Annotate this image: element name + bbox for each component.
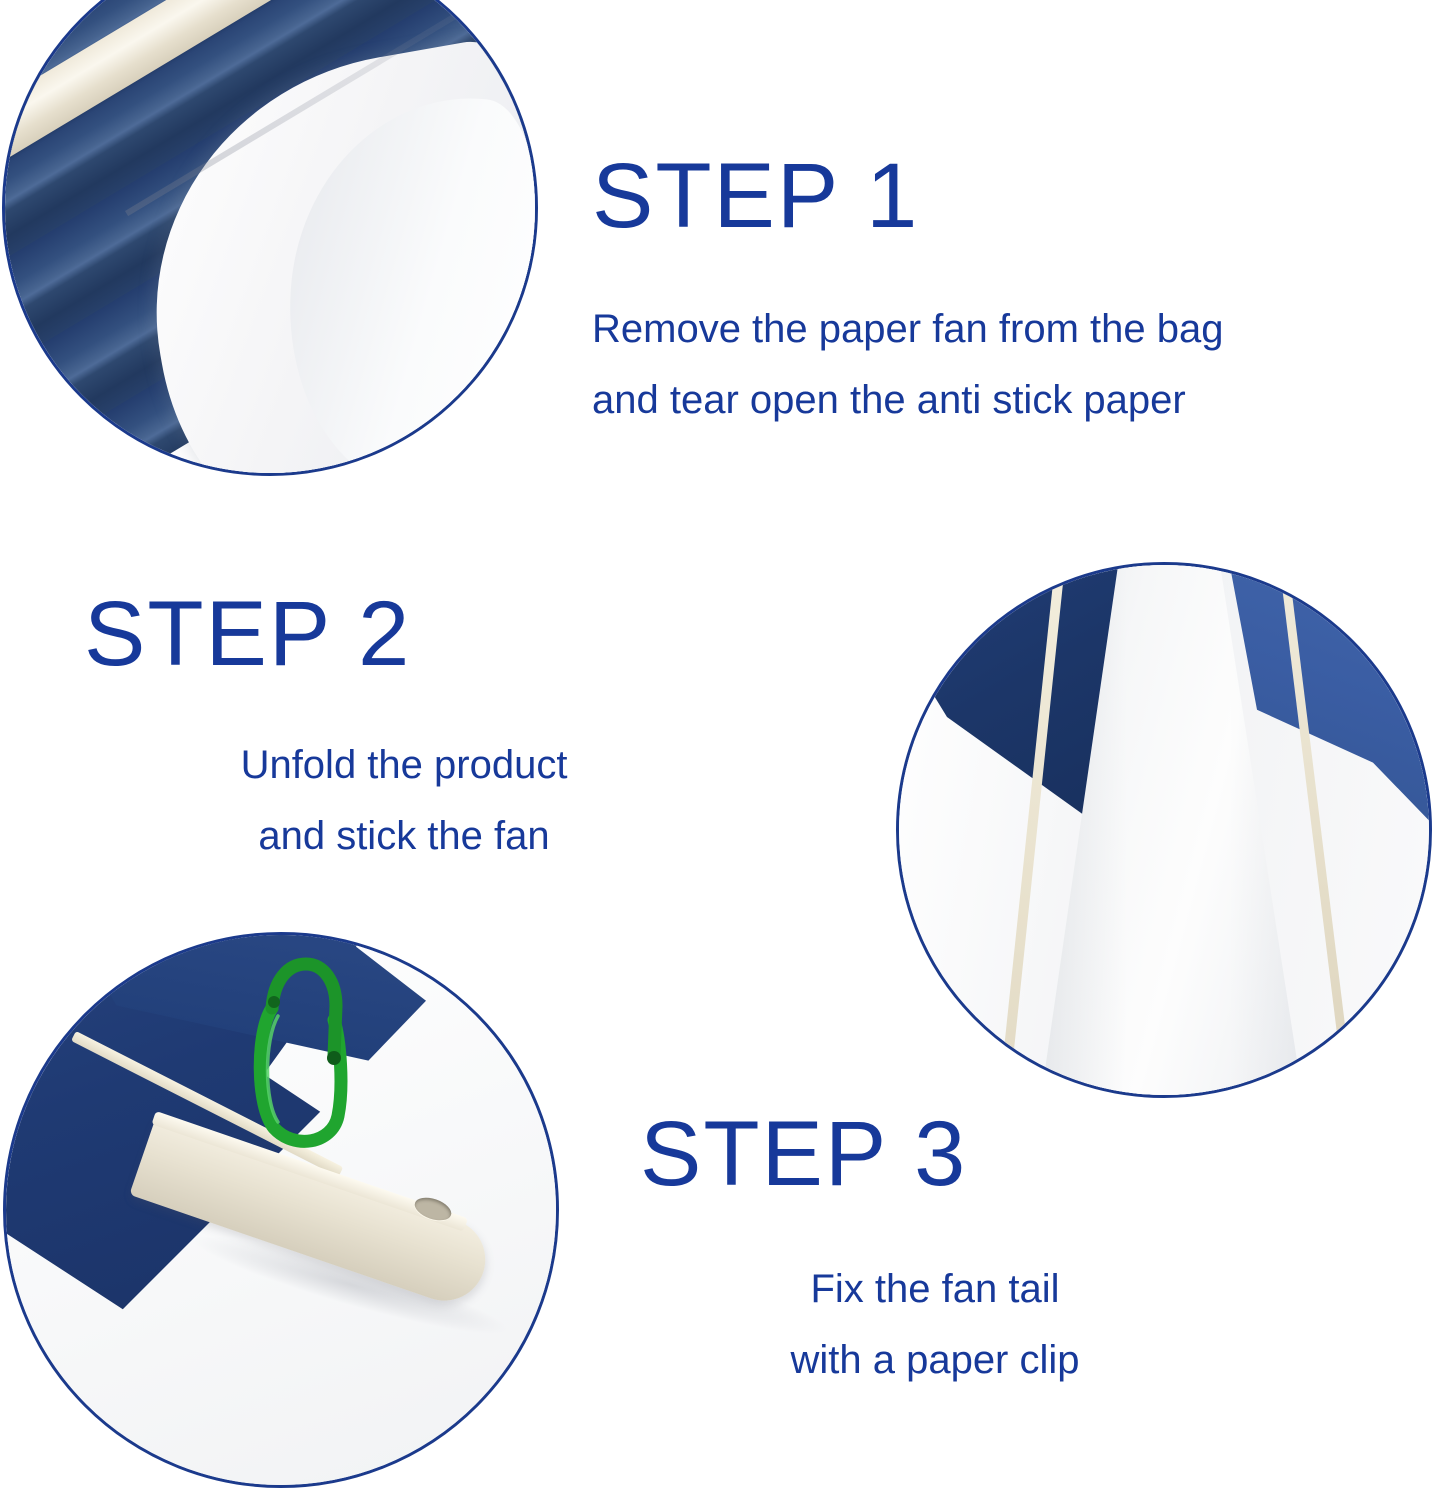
green-paper-clip bbox=[244, 936, 364, 1166]
step1-title: STEP 1 bbox=[592, 150, 1223, 242]
step3-text-block: STEP 3 Fix the fan tail with a paper cli… bbox=[640, 1108, 1230, 1396]
step3-description-line-2: with a paper clip bbox=[640, 1325, 1230, 1396]
step2-photo-inner bbox=[899, 565, 1429, 1095]
step1-description-line-1: Remove the paper fan from the bag bbox=[592, 294, 1223, 365]
paper-clip-wire-end-lower bbox=[327, 1051, 341, 1065]
step1-text-block: STEP 1 Remove the paper fan from the bag… bbox=[592, 150, 1223, 436]
paper-clip-wire-end-upper bbox=[268, 996, 280, 1008]
step2-description-line-1: Unfold the product bbox=[84, 730, 724, 801]
step3-title: STEP 3 bbox=[640, 1108, 1230, 1200]
step3-photo-inner bbox=[6, 935, 556, 1485]
step2-photo-circle bbox=[896, 562, 1432, 1098]
step3-description-line-1: Fix the fan tail bbox=[640, 1254, 1230, 1325]
step3-photo-circle bbox=[3, 932, 559, 1488]
step1-description-line-2: and tear open the anti stick paper bbox=[592, 365, 1223, 436]
step2-text-block: STEP 2 Unfold the product and stick the … bbox=[84, 588, 724, 872]
instruction-sheet: STEP 1 Remove the paper fan from the bag… bbox=[0, 0, 1434, 1500]
step2-description-line-2: and stick the fan bbox=[84, 801, 724, 872]
step2-title: STEP 2 bbox=[84, 588, 724, 680]
step1-photo-circle bbox=[2, 0, 538, 476]
paper-clip-icon bbox=[244, 936, 364, 1166]
step1-photo-inner bbox=[5, 0, 535, 473]
